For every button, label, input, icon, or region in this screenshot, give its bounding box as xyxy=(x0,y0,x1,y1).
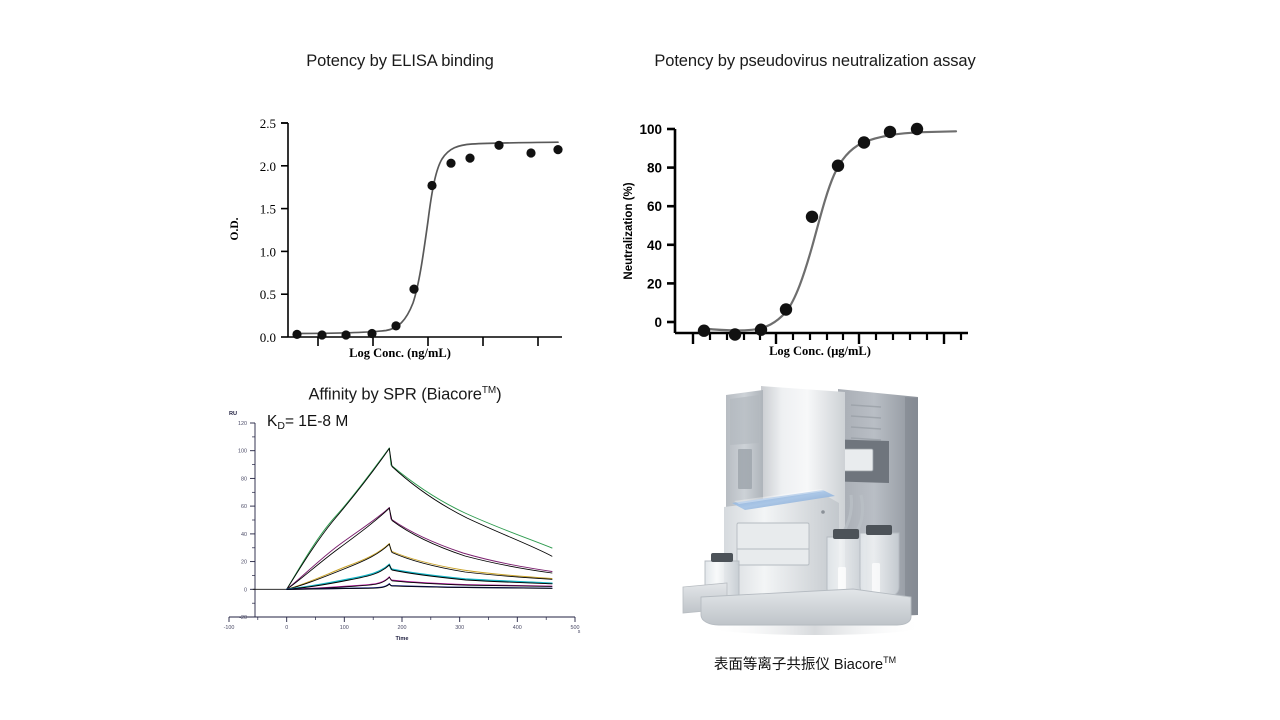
svg-text:1.0: 1.0 xyxy=(260,244,276,259)
instrument-caption-trademark: TM xyxy=(883,655,896,665)
panel-elisa-binding: Potency by ELISA binding 2.5 2.0 1.5 1.0… xyxy=(200,52,600,362)
svg-text:100: 100 xyxy=(639,122,662,137)
elisa-chart-title: Potency by ELISA binding xyxy=(200,52,600,71)
neutralization-point xyxy=(884,126,896,138)
spr-x-unit-label: s xyxy=(578,629,581,635)
elisa-fit-curve xyxy=(296,142,558,333)
elisa-point xyxy=(367,329,376,338)
svg-text:100: 100 xyxy=(238,449,247,455)
elisa-point xyxy=(465,154,474,163)
left-panel-window xyxy=(738,449,752,489)
neutralization-point xyxy=(729,328,741,340)
svg-text:-100: -100 xyxy=(224,625,235,631)
neutralization-point xyxy=(755,324,767,336)
spr-curve-group xyxy=(253,448,552,589)
svg-text:0: 0 xyxy=(244,587,247,593)
neutralization-chart-title: Potency by pseudovirus neutralization as… xyxy=(600,52,1030,71)
elisa-point xyxy=(292,330,301,339)
spr-sensorgram-plot: RU 120 100 80 60 xyxy=(205,407,605,667)
svg-text:200: 200 xyxy=(398,625,407,631)
svg-text:0: 0 xyxy=(654,315,662,330)
elisa-point xyxy=(494,141,503,150)
bottle-cap xyxy=(866,525,892,535)
svg-text:2.5: 2.5 xyxy=(260,116,276,131)
neutralization-x-axis-title: Log Conc. (μg/mL) xyxy=(769,344,871,358)
elisa-point xyxy=(427,181,436,190)
elisa-point xyxy=(553,145,562,154)
neutralization-y-tick-labels: 100 80 60 40 20 0 xyxy=(639,122,662,330)
neutralization-y-axis-title: Neutralization (%) xyxy=(623,182,635,279)
svg-text:20: 20 xyxy=(647,276,662,291)
neutralization-point xyxy=(858,136,870,148)
spr-y-ticks xyxy=(250,423,255,617)
svg-text:60: 60 xyxy=(647,199,662,214)
biacore-instrument-photo xyxy=(675,383,935,645)
bottle-cap xyxy=(833,529,859,539)
neutralization-point xyxy=(698,325,710,337)
elisa-point xyxy=(446,159,455,168)
spr-y-unit-label: RU xyxy=(229,411,237,417)
spr-title-trademark: TM xyxy=(482,385,496,396)
instrument-caption-text: 表面等离子共振仪 Biacore xyxy=(714,657,883,673)
elisa-y-tick-labels: 2.5 2.0 1.5 1.0 0.5 0.0 xyxy=(260,116,276,345)
svg-text:-20: -20 xyxy=(239,615,247,621)
elisa-data-points xyxy=(292,141,562,340)
svg-text:40: 40 xyxy=(241,532,247,538)
spr-title-text: Affinity by SPR (Biacore xyxy=(308,386,481,404)
svg-text:0: 0 xyxy=(285,625,288,631)
elisa-y-axis-title: O.D. xyxy=(229,217,241,240)
elisa-chart-plot: 2.5 2.0 1.5 1.0 0.5 0.0 xyxy=(200,71,600,346)
spr-x-ticks xyxy=(229,617,575,622)
svg-text:80: 80 xyxy=(241,476,247,482)
neutralization-point xyxy=(832,160,844,172)
svg-text:400: 400 xyxy=(513,625,522,631)
unit-indicator xyxy=(821,510,825,514)
neutralization-point xyxy=(806,211,818,223)
spr-x-axis-title: Time xyxy=(396,636,409,642)
panel-pseudovirus-neutralization: Potency by pseudovirus neutralization as… xyxy=(600,52,1030,362)
panel-biacore-instrument: 表面等离子共振仪 BiacoreTM xyxy=(660,383,950,683)
neutralization-point xyxy=(780,303,792,315)
svg-text:2.0: 2.0 xyxy=(260,159,276,174)
elisa-point xyxy=(341,330,350,339)
svg-text:100: 100 xyxy=(340,625,349,631)
elisa-point xyxy=(526,148,535,157)
elisa-y-ticks xyxy=(281,123,288,337)
tower-edge xyxy=(905,397,918,615)
spr-x-tick-labels: -100 0 100 200 300 400 500 xyxy=(224,625,580,631)
svg-text:40: 40 xyxy=(647,238,662,253)
instrument-illustration xyxy=(675,383,935,645)
elisa-point xyxy=(317,330,326,339)
instrument-caption: 表面等离子共振仪 BiacoreTM xyxy=(660,653,950,674)
left-panel-logo-area xyxy=(730,395,759,445)
svg-text:120: 120 xyxy=(238,421,247,427)
svg-text:300: 300 xyxy=(455,625,464,631)
instrument-buffer-bottles xyxy=(827,525,899,599)
svg-text:0.0: 0.0 xyxy=(260,330,276,345)
bottle-cap xyxy=(711,553,733,562)
panel-spr-affinity: Affinity by SPR (BiacoreTM) KD= 1E-8 M R… xyxy=(205,385,605,685)
elisa-point xyxy=(391,321,400,330)
elisa-point xyxy=(409,285,418,294)
instrument-drawer xyxy=(737,523,809,565)
svg-text:60: 60 xyxy=(241,504,247,510)
svg-text:1.5: 1.5 xyxy=(260,202,276,217)
svg-text:80: 80 xyxy=(647,161,662,176)
svg-text:0.5: 0.5 xyxy=(260,287,276,302)
elisa-x-axis-title: Log Conc. (ng/mL) xyxy=(349,346,451,360)
spr-title-paren: ) xyxy=(496,386,501,404)
neutralization-fit-curve xyxy=(704,131,956,330)
neutralization-point xyxy=(911,123,923,135)
neutralization-chart-plot: 100 80 60 40 20 0 xyxy=(600,71,1030,346)
spr-y-tick-labels: 120 100 80 60 40 20 0 -20 xyxy=(238,421,247,621)
svg-text:20: 20 xyxy=(241,560,247,566)
neutralization-data-points xyxy=(698,123,923,341)
spr-chart-title: Affinity by SPR (BiacoreTM) xyxy=(205,385,605,405)
